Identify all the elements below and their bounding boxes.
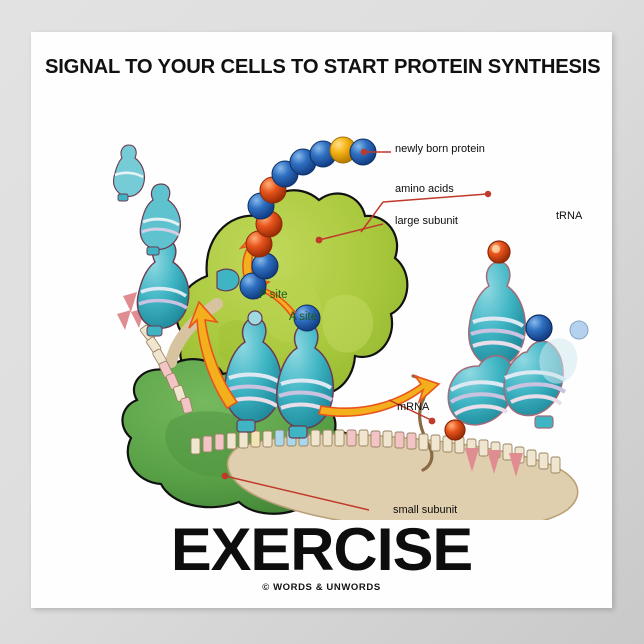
trna-ghost (539, 338, 577, 383)
trna-fragment (217, 269, 239, 291)
protein-synthesis-diagram: newly born protein amino acids large sub… (31, 90, 612, 520)
label-amino-acids: amino acids (395, 184, 454, 195)
label-newly-born-protein: newly born protein (395, 144, 485, 155)
screenshot-root: SIGNAL TO YOUR CELLS TO START PROTEIN SY… (0, 0, 644, 644)
label-p-site: P site (259, 290, 288, 302)
page-title: SIGNAL TO YOUR CELLS TO START PROTEIN SY… (45, 55, 593, 79)
label-mrna: mRNA (397, 402, 429, 413)
label-large-subunit: large subunit (395, 216, 458, 227)
poster-panel: SIGNAL TO YOUR CELLS TO START PROTEIN SY… (31, 32, 612, 608)
trna-exiting-3 (114, 145, 145, 201)
label-trna: tRNA (556, 211, 582, 222)
label-a-site: A site (289, 312, 317, 324)
trna-free-left (445, 356, 515, 440)
copyright-credit: © WORDS & UNWORDS (31, 582, 612, 593)
diagram-svg (31, 90, 612, 520)
headline-word: EXERCISE (25, 515, 618, 584)
